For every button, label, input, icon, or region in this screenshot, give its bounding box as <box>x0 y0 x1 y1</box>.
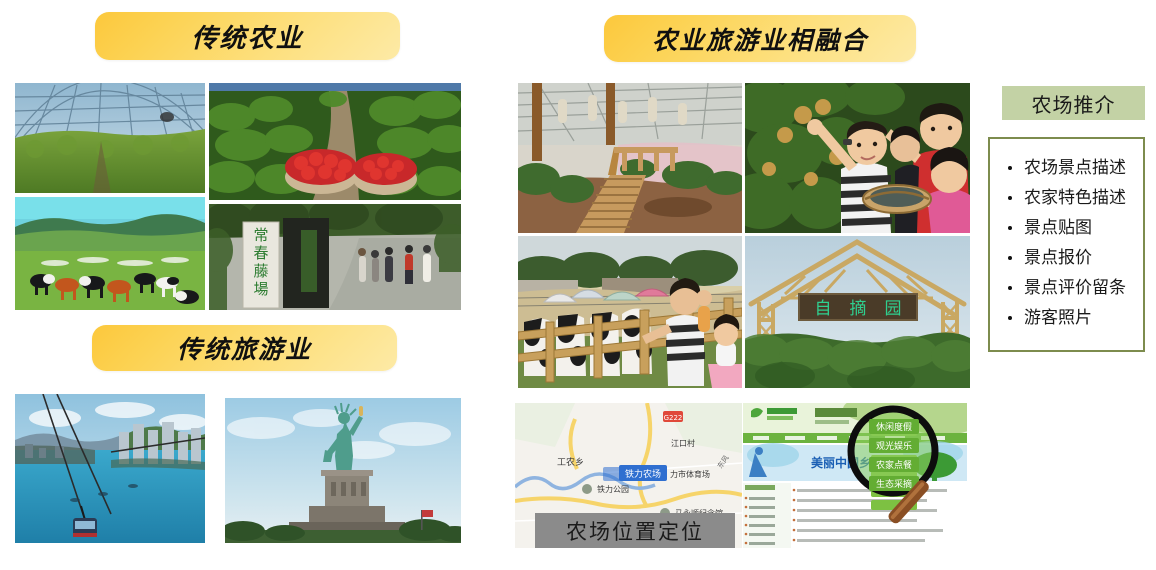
svg-text:自: 自 <box>815 299 832 319</box>
map-label-farm: 铁力农场 <box>625 468 661 480</box>
map-label-stadium: 力市体育场 <box>670 469 710 479</box>
sidebar-item-spot-pricing[interactable]: 景点报价 <box>990 243 1143 273</box>
lens-menu-item-0: 休闲度假 <box>876 421 912 433</box>
photo-grid-fusion: 自摘园 <box>518 83 970 388</box>
sidebar-panel: 农场景点描述 农家特色描述 景点贴图 景点报价 景点评价留条 游客照片 <box>988 137 1145 352</box>
photo-farm-gate: 常春藤場 <box>209 204 461 310</box>
map-caption-label: 农场位置定位 <box>566 516 704 546</box>
sidebar-header-label: 农场推介 <box>1032 89 1116 118</box>
banner-fusion-label: 农业旅游业相融合 <box>652 21 868 57</box>
lens-menu-item-2: 农家点餐 <box>876 459 912 471</box>
map-label-village: 江口村 <box>671 438 695 448</box>
banner-fusion: 农业旅游业相融合 <box>604 15 916 62</box>
photo-cattle-pasture <box>15 197 205 310</box>
photo-greenhouse <box>15 83 205 193</box>
photo-cow-feeding <box>518 236 742 388</box>
slide-canvas: 传统农业 农业旅游业相融合 传统旅游业 <box>0 0 1156 570</box>
photo-grid-tourism <box>15 394 461 545</box>
photo-statue-of-liberty <box>225 398 461 543</box>
sidebar-header: 农场推介 <box>1002 86 1145 120</box>
sidebar-item-farmhouse-feature-description[interactable]: 农家特色描述 <box>990 183 1143 213</box>
photo-cable-car-bay <box>15 394 205 543</box>
photo-grid-agriculture: 常春藤場 <box>15 83 461 310</box>
sidebar-item-farm-spot-description[interactable]: 农场景点描述 <box>990 153 1143 183</box>
map-caption-bar: 农场位置定位 <box>535 513 735 548</box>
photo-website-screenshot: 美丽中国乡村行 <box>743 403 967 548</box>
photo-farm-location-map: G222 工农乡 江口村 铁力农场 力市体育场 铁力公园 <box>515 403 742 548</box>
svg-text:春: 春 <box>253 244 268 262</box>
map-label-township: 工农乡 <box>557 456 584 468</box>
composite-map-website: G222 工农乡 江口村 铁力农场 力市体育场 铁力公园 <box>515 403 967 548</box>
photo-strawberry-field <box>209 83 461 200</box>
svg-text:藤: 藤 <box>253 262 268 280</box>
photo-garden-walkway <box>518 83 742 233</box>
lens-menu-item-1: 观光娱乐 <box>876 440 912 452</box>
svg-text:場: 場 <box>253 280 268 298</box>
banner-traditional-agriculture-label: 传统农业 <box>191 18 303 55</box>
lens-menu-item-3: 生态采摘 <box>876 478 912 490</box>
sidebar-item-spot-photos[interactable]: 景点贴图 <box>990 213 1143 243</box>
photo-bamboo-gate: 自摘园 <box>745 236 970 388</box>
svg-text:常: 常 <box>253 226 268 244</box>
photo-fruit-picking <box>745 83 970 233</box>
svg-text:园: 园 <box>885 299 902 319</box>
map-road-shield: G222 <box>664 414 683 422</box>
sidebar-item-visitor-photos[interactable]: 游客照片 <box>990 303 1143 333</box>
banner-traditional-tourism: 传统旅游业 <box>92 325 397 371</box>
svg-text:摘: 摘 <box>850 299 867 319</box>
sidebar-item-spot-reviews[interactable]: 景点评价留条 <box>990 273 1143 303</box>
map-label-park: 铁力公园 <box>597 484 629 494</box>
sidebar-feature-list: 农场景点描述 农家特色描述 景点贴图 景点报价 景点评价留条 游客照片 <box>990 139 1143 333</box>
banner-traditional-tourism-label: 传统旅游业 <box>177 330 312 366</box>
banner-traditional-agriculture: 传统农业 <box>95 12 400 60</box>
